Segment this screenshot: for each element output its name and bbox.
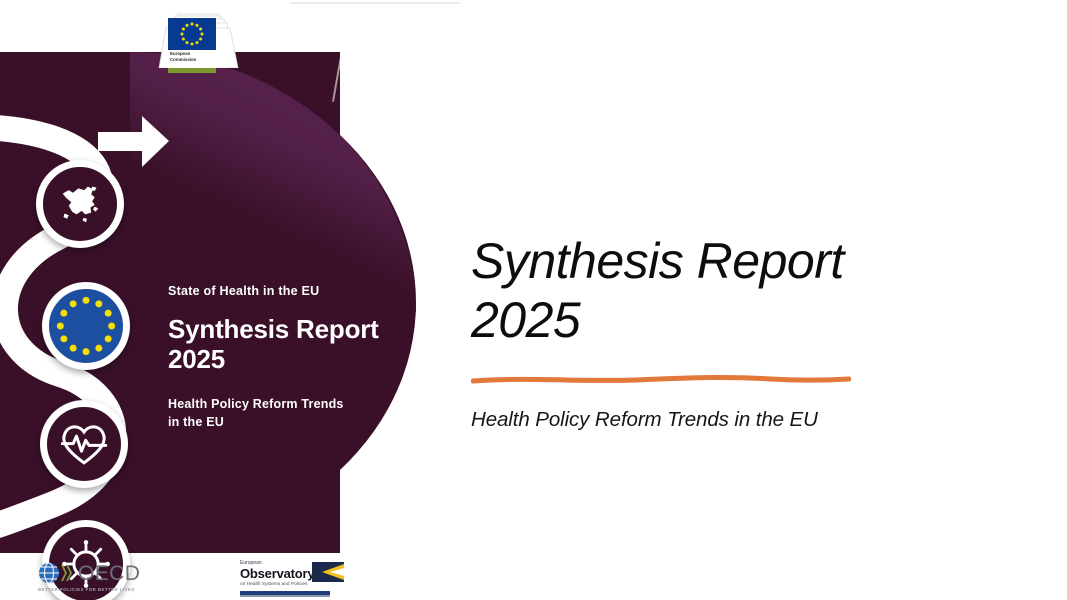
orange-underline-accent [471, 374, 851, 386]
oecd-wordmark: OECD [78, 562, 140, 586]
eu-flag-icon [168, 18, 216, 50]
heart-pulse-icon [40, 400, 128, 488]
observatory-tagline: on Health Systems and Policies [240, 582, 307, 587]
european-commission-logo: European Commission [144, 2, 252, 74]
slide-top-edge [290, 2, 460, 4]
page-subtitle: Health Policy Reform Trends in the EU [471, 408, 818, 432]
oecd-logo: OECD BETTER POLICIES FOR BETTER LIVES [38, 562, 150, 596]
page-title-line-1: Synthesis Report [471, 232, 991, 291]
eu-flag-icon [42, 282, 130, 370]
arrow-right-icon [98, 114, 170, 170]
page-title: Synthesis Report 2025 [471, 232, 991, 349]
cover-title-line-2: 2025 [168, 344, 379, 374]
ec-logo-line-2: Commission [170, 57, 216, 63]
europe-map-icon [36, 160, 124, 248]
slide-canvas: State of Health in the EU Synthesis Repo… [0, 0, 1067, 600]
ec-logo-text: European Commission [170, 51, 216, 63]
observatory-mark-icon [312, 562, 344, 582]
ec-logo-green-bar [168, 68, 216, 73]
page-title-line-2: 2025 [471, 291, 991, 350]
cover-subtitle: Health Policy Reform Trends in the EU [168, 396, 344, 432]
cover-title-line-1: Synthesis Report [168, 314, 379, 344]
observatory-wordmark: Observatory [240, 566, 314, 581]
globe-icon [38, 562, 74, 586]
oecd-tagline: BETTER POLICIES FOR BETTER LIVES [38, 587, 135, 592]
cover-hairline [387, 520, 398, 578]
cover-subtitle-line-2: in the EU [168, 414, 344, 432]
european-observatory-logo: European Observatory on Health Systems a… [240, 560, 348, 596]
report-cover-image: State of Health in the EU Synthesis Repo… [0, 52, 420, 553]
cover-title: Synthesis Report 2025 [168, 314, 379, 375]
cover-hairline [400, 524, 410, 576]
cover-kicker: State of Health in the EU [168, 284, 319, 298]
observatory-bar-secondary [240, 595, 330, 597]
cover-subtitle-line-1: Health Policy Reform Trends [168, 396, 344, 414]
